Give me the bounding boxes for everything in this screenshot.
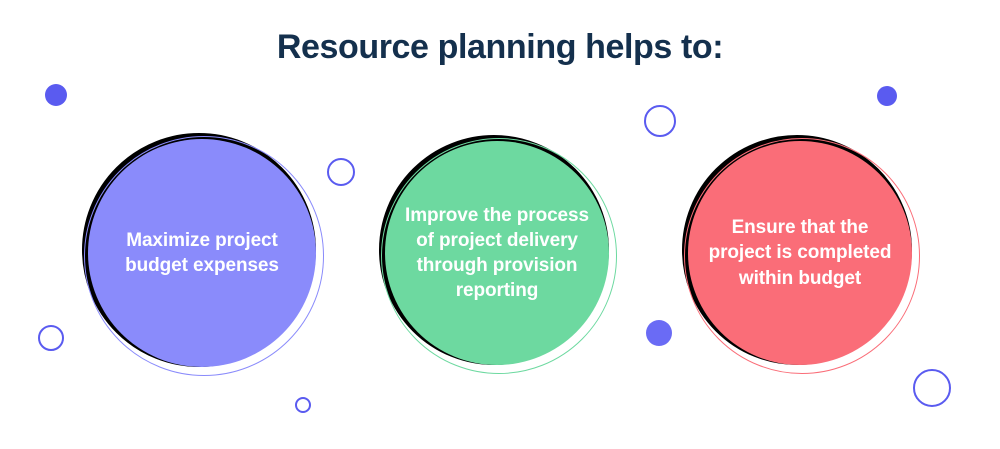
decorative-circle-dot-top-right (877, 86, 897, 106)
decorative-circle-ring-bottom-right (913, 369, 951, 407)
decorative-circle-dot-mid-right (646, 320, 672, 346)
bubble-label: Maximize project budget expenses (111, 228, 293, 278)
decorative-circle-ring-mid-left (38, 325, 64, 351)
page-title: Resource planning helps to: (0, 28, 1000, 67)
decorative-circle-ring-bottom-center (295, 397, 311, 413)
infographic-canvas: Maximize project budget expensesImprove … (0, 0, 1000, 449)
bubble-label: Improve the process of project delivery … (391, 203, 603, 303)
decorative-circle-ring-upper-center-l (327, 158, 355, 186)
decorative-circle-ring-top-center (644, 105, 676, 137)
decorative-circle-dot-top-left (45, 84, 67, 106)
bubble-disc[interactable]: Improve the process of project delivery … (385, 141, 609, 365)
bubble-disc[interactable]: Ensure that the project is completed wit… (688, 141, 912, 365)
bubble-disc[interactable]: Maximize project budget expenses (88, 139, 316, 367)
bubble-label: Ensure that the project is completed wit… (695, 215, 906, 290)
